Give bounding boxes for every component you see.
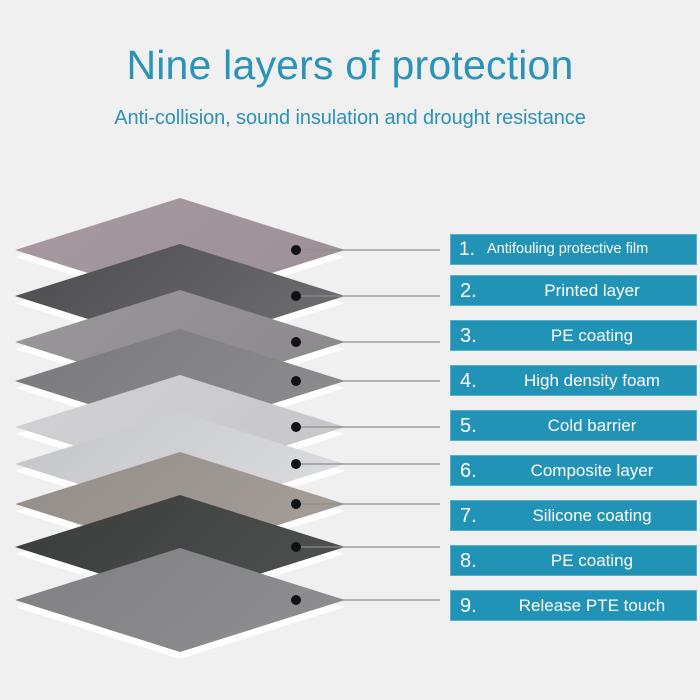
layer-number-1: 1. <box>451 240 487 259</box>
connector-dot-9[interactable] <box>291 595 301 605</box>
layer-label-box-4[interactable]: 4.High density foam <box>450 365 697 396</box>
layer-number-3: 3. <box>451 326 494 346</box>
layer-label-box-6[interactable]: 6.Composite layer <box>450 455 697 486</box>
layer-label-text-5: Cold barrier <box>494 417 696 434</box>
layer-label-text-6: Composite layer <box>494 462 696 479</box>
connector-dot-1[interactable] <box>291 245 301 255</box>
layer-label-text-8: PE coating <box>494 552 696 569</box>
connector-dot-2[interactable] <box>291 291 301 301</box>
layer-number-4: 4. <box>451 371 494 391</box>
layer-number-9: 9. <box>451 596 494 616</box>
layer-number-5: 5. <box>451 416 494 436</box>
layer-label-text-9: Release PTE touch <box>494 597 696 614</box>
layer-label-box-8[interactable]: 8.PE coating <box>450 545 697 576</box>
layer-label-text-4: High density foam <box>494 372 696 389</box>
layer-stack-diagram <box>0 0 440 700</box>
layer-label-text-1: Antifouling protective film <box>487 242 696 257</box>
connector-dot-3[interactable] <box>291 337 301 347</box>
layer-number-7: 7. <box>451 506 494 526</box>
layer-label-list: 1.Antifouling protective film2.Printed l… <box>450 0 700 700</box>
layer-label-box-7[interactable]: 7.Silicone coating <box>450 500 697 531</box>
layer-label-text-7: Silicone coating <box>494 507 696 524</box>
layer-label-box-2[interactable]: 2.Printed layer <box>450 275 697 306</box>
connector-dot-4[interactable] <box>291 376 301 386</box>
layer-number-8: 8. <box>451 551 494 571</box>
layer-label-box-3[interactable]: 3.PE coating <box>450 320 697 351</box>
infographic-canvas: Nine layers of protection Anti-collision… <box>0 0 700 700</box>
layer-number-6: 6. <box>451 461 494 481</box>
layer-label-text-2: Printed layer <box>494 282 696 299</box>
layer-label-box-1[interactable]: 1.Antifouling protective film <box>450 234 697 265</box>
connector-dot-8[interactable] <box>291 542 301 552</box>
layer-label-text-3: PE coating <box>494 327 696 344</box>
layer-label-box-5[interactable]: 5.Cold barrier <box>450 410 697 441</box>
connector-dot-5[interactable] <box>291 422 301 432</box>
layer-label-box-9[interactable]: 9.Release PTE touch <box>450 590 697 621</box>
connector-dot-7[interactable] <box>291 499 301 509</box>
layer-number-2: 2. <box>451 281 494 301</box>
connector-dot-6[interactable] <box>291 459 301 469</box>
